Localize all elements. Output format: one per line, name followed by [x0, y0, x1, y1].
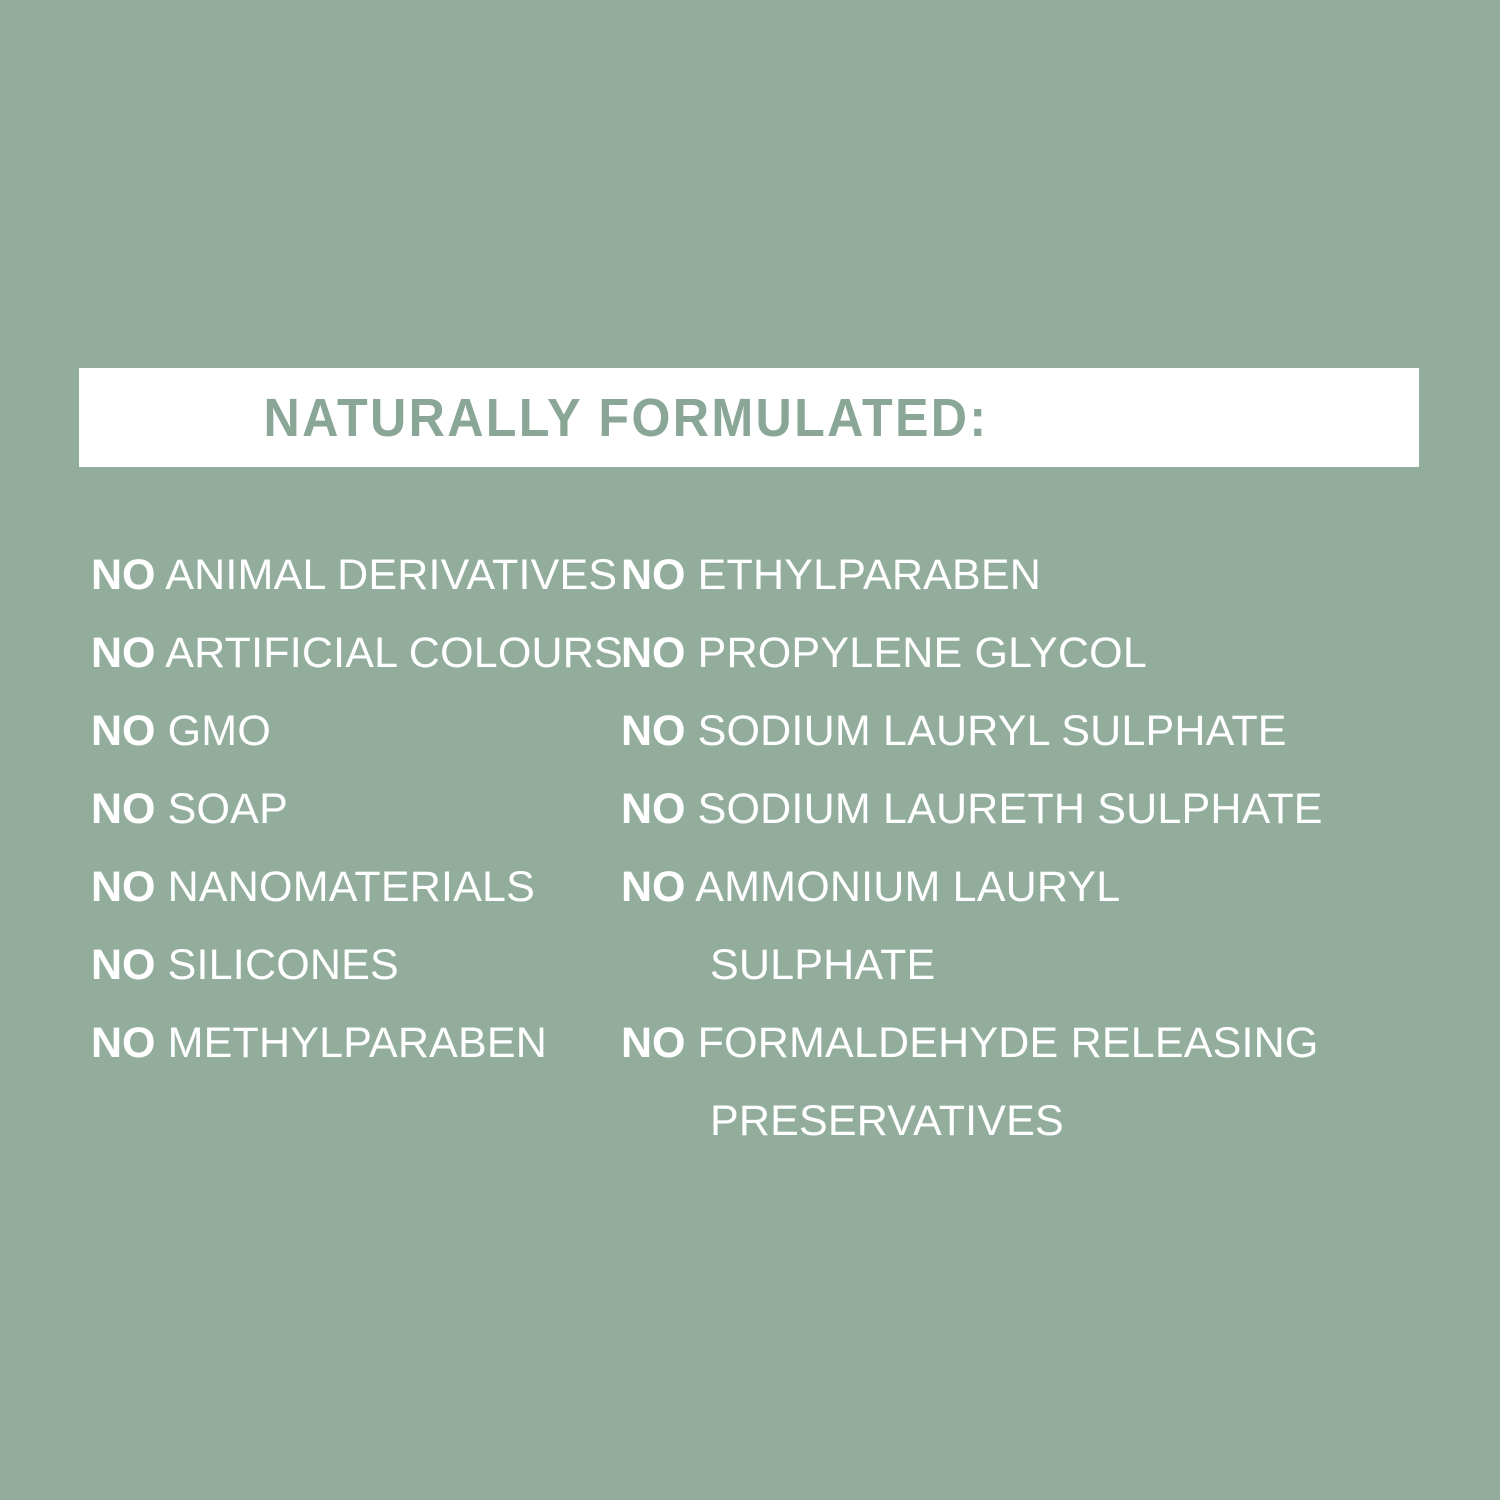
claim-item: NO PROPYLENE GLYCOL — [621, 614, 1420, 692]
claim-item: NO SODIUM LAURETH SULPHATE — [621, 770, 1420, 848]
claim-prefix: NO — [91, 785, 156, 833]
page-title: NATURALLY FORMULATED: — [263, 391, 1234, 445]
claim-label: FORMALDEHYDE RELEASING — [698, 1019, 1319, 1067]
claim-item: NO ARTIFICIAL COLOURS — [91, 614, 610, 692]
claim-label: GMO — [168, 707, 271, 755]
claim-prefix: NO — [91, 941, 156, 989]
claims-column-right: NO ETHYLPARABEN NO PROPYLENE GLYCOL NO S… — [610, 536, 1420, 1160]
claim-prefix: NO — [621, 785, 686, 833]
poster-canvas: NATURALLY FORMULATED: NO ANIMAL DERIVATI… — [0, 0, 1500, 1500]
claim-label: METHYLPARABEN — [168, 1019, 547, 1067]
claim-label-continuation: SULPHATE — [621, 926, 1321, 1004]
claim-prefix: NO — [621, 1019, 686, 1067]
claims-column-left: NO ANIMAL DERIVATIVES NO ARTIFICIAL COLO… — [0, 536, 610, 1082]
claim-prefix: NO — [621, 707, 686, 755]
claim-label: AMMONIUM LAURYL — [695, 863, 1120, 911]
claim-item: NO ETHYLPARABEN — [621, 536, 1420, 614]
claim-label: PROPYLENE GLYCOL — [698, 629, 1147, 677]
claim-label: SOAP — [168, 785, 288, 833]
claim-prefix: NO — [621, 629, 686, 677]
claim-label: SODIUM LAURETH SULPHATE — [698, 785, 1323, 833]
claim-item: NO SODIUM LAURYL SULPHATE — [621, 692, 1420, 770]
claims-columns: NO ANIMAL DERIVATIVES NO ARTIFICIAL COLO… — [0, 536, 1500, 1160]
claim-item: NO NANOMATERIALS — [91, 848, 610, 926]
claim-prefix: NO — [91, 707, 156, 755]
claim-label-continuation: PRESERVATIVES — [621, 1082, 1321, 1160]
claim-item: NO AMMONIUM LAURYL SULPHATE — [621, 848, 1321, 1004]
claim-label: SODIUM LAURYL SULPHATE — [698, 707, 1287, 755]
claim-item: NO METHYLPARABEN — [91, 1004, 610, 1082]
claim-prefix: NO — [91, 1019, 156, 1067]
claim-prefix: NO — [621, 863, 686, 911]
claim-prefix: NO — [621, 551, 686, 599]
claim-label: SILICONES — [168, 941, 399, 989]
claim-item: NO FORMALDEHYDE RELEASING PRESERVATIVES — [621, 1004, 1321, 1160]
claim-label: NANOMATERIALS — [168, 863, 535, 911]
claim-item: NO SOAP — [91, 770, 610, 848]
claim-prefix: NO — [91, 551, 156, 599]
header-banner: NATURALLY FORMULATED: — [79, 368, 1419, 467]
claim-label: ANIMAL DERIVATIVES — [165, 551, 617, 599]
claim-label: ARTIFICIAL COLOURS — [165, 629, 623, 677]
claim-item: NO GMO — [91, 692, 610, 770]
claim-item: NO ANIMAL DERIVATIVES — [91, 536, 610, 614]
claim-label: ETHYLPARABEN — [698, 551, 1041, 599]
claim-prefix: NO — [91, 629, 156, 677]
claim-item: NO SILICONES — [91, 926, 610, 1004]
claim-prefix: NO — [91, 863, 156, 911]
